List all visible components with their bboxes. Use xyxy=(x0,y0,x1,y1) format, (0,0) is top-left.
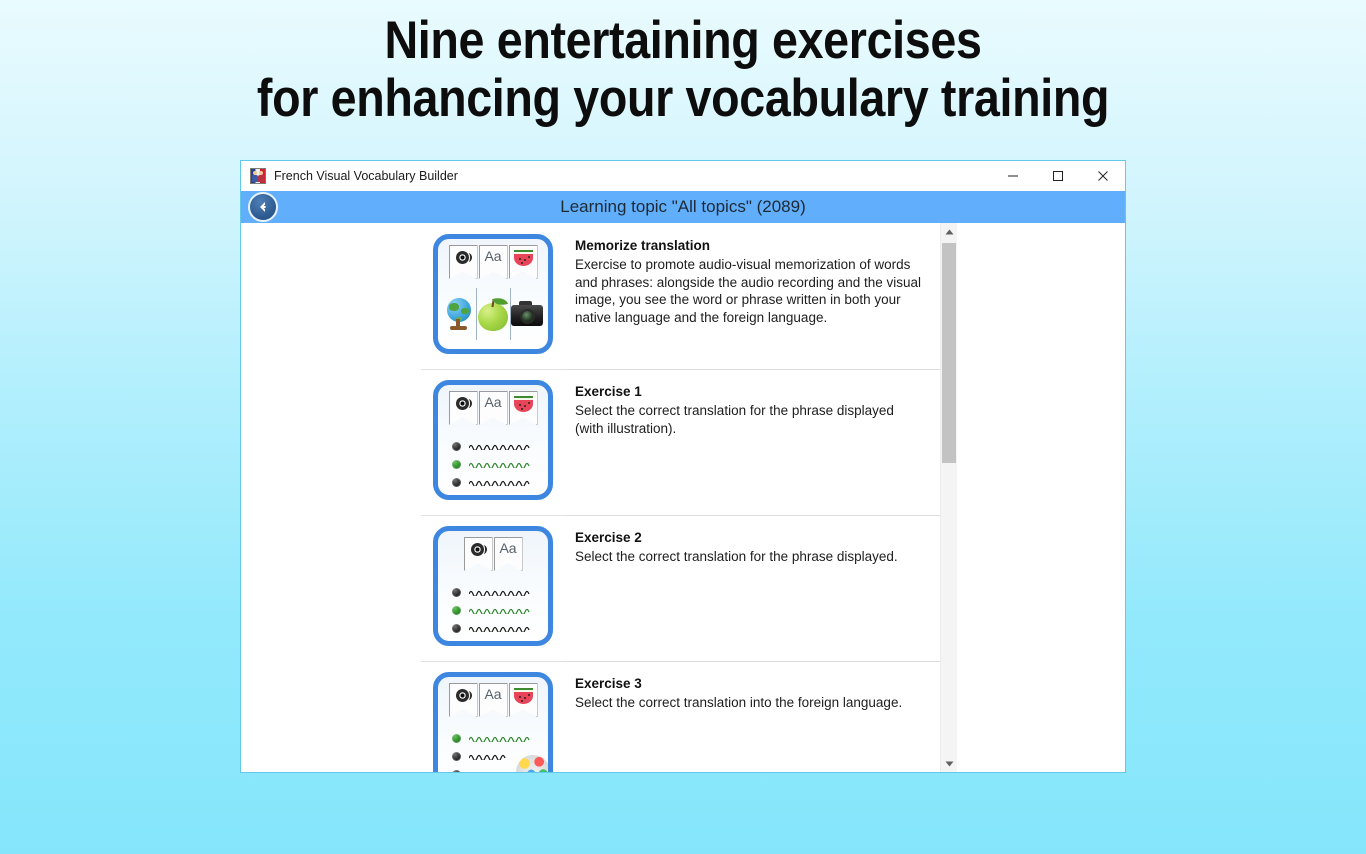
squiggle-line-icon xyxy=(469,460,531,468)
squiggle-line-icon xyxy=(469,734,531,742)
page-title: Learning topic "All topics" (2089) xyxy=(560,197,805,217)
list-item-title: Memorize translation xyxy=(575,237,925,254)
scroll-down-icon xyxy=(945,761,954,767)
text-cell: Exercise 3 Select the correct translatio… xyxy=(565,671,912,712)
watermelon-ribbon-icon xyxy=(509,391,538,425)
list-item[interactable]: Aa xyxy=(241,369,940,515)
radio-bullet-icon xyxy=(452,442,461,451)
scroll-up-icon xyxy=(945,229,954,235)
scrollbar-thumb[interactable] xyxy=(942,243,956,463)
exercise-1-thumbnail: Aa xyxy=(433,380,553,500)
right-empty-pane xyxy=(957,223,1125,772)
radio-bullet-selected-icon xyxy=(452,734,461,743)
content-area: Aa xyxy=(241,223,1125,772)
maximize-icon xyxy=(1052,170,1064,182)
text-ribbon-icon: Aa xyxy=(479,391,508,425)
apple-icon xyxy=(476,288,510,340)
text-ribbon-icon: Aa xyxy=(479,245,508,279)
radio-bullet-icon xyxy=(452,478,461,487)
answer-option xyxy=(452,729,540,747)
banner-tabs: Aa xyxy=(438,537,548,571)
list-item-description: Select the correct translation into the … xyxy=(575,694,902,712)
answer-option xyxy=(452,473,540,491)
squiggle-line-icon xyxy=(469,588,531,596)
promo-heading: Nine entertaining exercises for enhancin… xyxy=(82,12,1284,128)
answer-options xyxy=(452,583,540,637)
promo-heading-line-1: Nine entertaining exercises xyxy=(82,12,1284,70)
squiggle-line-icon xyxy=(469,752,509,760)
text-ribbon-icon: Aa xyxy=(479,683,508,717)
list-item[interactable]: Aa xyxy=(241,223,940,369)
text-cell: Exercise 1 Select the correct translatio… xyxy=(565,379,935,437)
radio-bullet-icon xyxy=(452,770,461,773)
list-item[interactable]: Aa xyxy=(241,661,940,772)
squiggle-line-icon xyxy=(469,624,531,632)
watermelon-ribbon-icon xyxy=(509,683,538,717)
radio-bullet-icon xyxy=(452,752,461,761)
scroll-up-button[interactable] xyxy=(941,223,957,240)
list-item[interactable]: Aa xyxy=(241,515,940,661)
watermelon-ribbon-icon xyxy=(509,245,538,279)
squiggle-line-icon xyxy=(469,770,509,772)
close-icon xyxy=(1097,170,1109,182)
vertical-scrollbar[interactable] xyxy=(940,223,957,772)
speaker-ribbon-icon xyxy=(449,245,478,279)
title-bar[interactable]: French Visual Vocabulary Builder xyxy=(241,161,1125,191)
list-separator xyxy=(565,515,940,516)
banner-tabs: Aa xyxy=(438,245,548,279)
answer-option xyxy=(452,619,540,637)
thumbnail-cell: Aa xyxy=(421,671,565,772)
exercise-3-thumbnail: Aa xyxy=(433,672,553,772)
answer-option xyxy=(452,583,540,601)
memorize-translation-thumbnail: Aa xyxy=(433,234,553,354)
back-arrow-icon xyxy=(255,199,271,215)
list-item-description: Select the correct translation for the p… xyxy=(575,548,898,566)
answer-option xyxy=(452,455,540,473)
exercise-list: Aa xyxy=(241,223,940,772)
list-separator xyxy=(565,369,940,370)
list-item-title: Exercise 3 xyxy=(575,675,902,692)
window-controls xyxy=(990,161,1125,191)
minimize-button[interactable] xyxy=(990,161,1035,191)
speaker-ribbon-icon xyxy=(464,537,493,571)
radio-bullet-icon xyxy=(452,624,461,633)
squiggle-line-icon xyxy=(469,606,531,614)
speaker-ribbon-icon xyxy=(449,683,478,717)
list-item-title: Exercise 1 xyxy=(575,383,925,400)
application-window: French Visual Vocabulary Builder xyxy=(240,160,1126,773)
radio-bullet-selected-icon xyxy=(452,606,461,615)
radio-bullet-selected-icon xyxy=(452,460,461,469)
back-button[interactable] xyxy=(248,192,278,222)
list-separator xyxy=(565,661,940,662)
thumbnail-cell: Aa xyxy=(421,233,565,354)
thumbnail-cell: Aa xyxy=(421,379,565,500)
squiggle-line-icon xyxy=(469,478,531,486)
list-item-title: Exercise 2 xyxy=(575,529,898,546)
list-item-description: Exercise to promote audio-visual memoriz… xyxy=(575,256,925,326)
topic-header-bar: Learning topic "All topics" (2089) xyxy=(241,191,1125,223)
speaker-ribbon-icon xyxy=(449,391,478,425)
scroll-down-button[interactable] xyxy=(941,755,957,772)
exercise-2-thumbnail: Aa xyxy=(433,526,553,646)
minimize-icon xyxy=(1007,170,1019,182)
window-title: French Visual Vocabulary Builder xyxy=(274,169,458,183)
squiggle-line-icon xyxy=(469,442,531,450)
camera-icon xyxy=(510,288,544,340)
answer-option xyxy=(452,601,540,619)
radio-bullet-icon xyxy=(452,588,461,597)
text-ribbon-icon: Aa xyxy=(494,537,523,571)
thumbnail-cell: Aa xyxy=(421,525,565,646)
answer-options xyxy=(452,437,540,491)
text-cell: Exercise 2 Select the correct translatio… xyxy=(565,525,908,566)
close-button[interactable] xyxy=(1080,161,1125,191)
list-item-description: Select the correct translation for the p… xyxy=(575,402,925,437)
french-flag-people-icon xyxy=(250,168,266,184)
answer-option xyxy=(452,437,540,455)
banner-tabs: Aa xyxy=(438,391,548,425)
globe-icon xyxy=(443,288,476,340)
picture-row xyxy=(442,285,544,343)
banner-tabs: Aa xyxy=(438,683,548,717)
promo-heading-line-2: for enhancing your vocabulary training xyxy=(82,70,1284,128)
text-cell: Memorize translation Exercise to promote… xyxy=(565,233,935,326)
maximize-button[interactable] xyxy=(1035,161,1080,191)
